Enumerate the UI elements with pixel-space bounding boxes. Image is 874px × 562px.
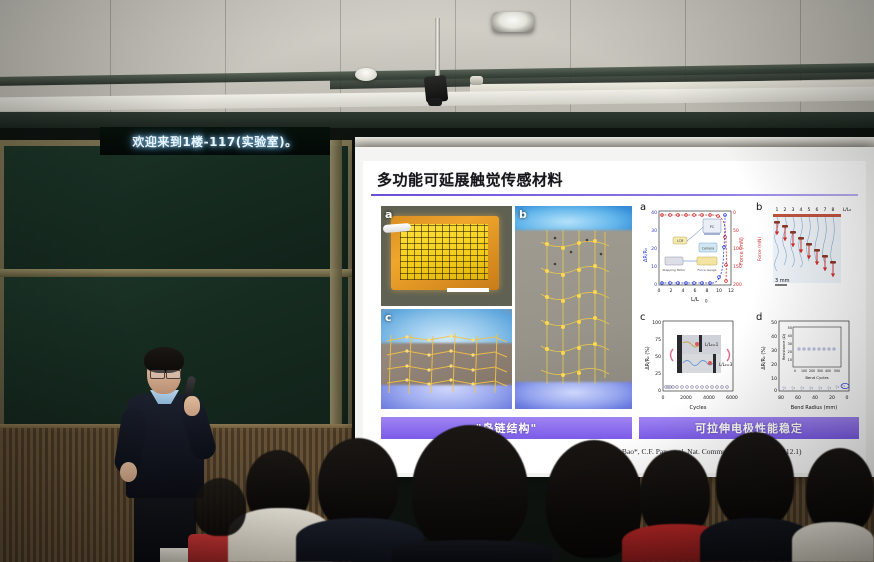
svg-text:1: 1 (776, 207, 779, 213)
svg-text:0: 0 (846, 395, 849, 401)
svg-text:3 mm: 3 mm (775, 278, 790, 284)
svg-text:8: 8 (706, 288, 709, 294)
chart-label-c: c (640, 312, 646, 323)
svg-text:20: 20 (788, 350, 792, 354)
panel-label-a: a (385, 208, 392, 221)
svg-text:10: 10 (716, 288, 722, 294)
svg-text:L/L₀: L/L₀ (843, 207, 852, 213)
svg-text:Bend Radius (mm): Bend Radius (mm) (791, 405, 837, 411)
banner-island-bridge: "岛链结构" (381, 417, 632, 439)
photo-panel-c: c (381, 309, 512, 409)
svg-text:Force (mN): Force (mN) (739, 237, 745, 265)
svg-text:75: 75 (655, 337, 661, 343)
photo-panel-b: b (515, 206, 632, 409)
svg-text:5: 5 (808, 207, 811, 213)
svg-text:10: 10 (771, 376, 777, 382)
svg-text:40: 40 (651, 210, 657, 216)
svg-text:50: 50 (771, 320, 777, 326)
audience-head (318, 438, 398, 530)
svg-text:ΔR/R₀: ΔR/R₀ (643, 248, 649, 262)
svg-text:3: 3 (792, 207, 795, 213)
svg-text:0: 0 (705, 299, 708, 304)
svg-text:30: 30 (771, 348, 777, 354)
chart-panel-d: d 504030 20100 806040 200 Bend Radius (m… (755, 313, 859, 413)
svg-text:8: 8 (832, 207, 835, 213)
svg-text:4: 4 (800, 207, 803, 213)
svg-text:0: 0 (654, 282, 657, 288)
audience-head (194, 478, 246, 536)
ceiling-light-icon (492, 12, 534, 32)
svg-text:L/L: L/L (691, 297, 700, 303)
speaker-right-hand (184, 396, 200, 416)
title-underline (371, 194, 858, 196)
svg-text:4000: 4000 (703, 395, 715, 401)
slide-title: 多功能可延展触觉传感材料 (377, 169, 563, 190)
svg-text:6: 6 (694, 288, 697, 294)
chart-b-svg: 123 456 78 L/L₀ (755, 203, 859, 305)
blackboard-upper-panel (4, 146, 348, 269)
svg-text:0: 0 (774, 388, 777, 394)
svg-text:0: 0 (658, 388, 661, 394)
svg-text:ΔR/R₀ (%): ΔR/R₀ (%) (761, 346, 767, 369)
svg-text:40: 40 (812, 395, 818, 401)
smoke-detector-icon (470, 76, 483, 85)
gloved-hand-upper (515, 206, 632, 230)
svg-text:100: 100 (652, 320, 661, 326)
svg-text:6: 6 (816, 207, 819, 213)
svg-text:25: 25 (655, 371, 661, 377)
stretched-mesh-overlay (537, 228, 613, 386)
chart-panel-b: b 123 456 78 L/L₀ (755, 203, 859, 305)
svg-text:500: 500 (834, 369, 840, 373)
svg-text:50: 50 (733, 228, 739, 234)
svg-text:80: 80 (778, 395, 784, 401)
chart-label-a: a (640, 202, 646, 213)
svg-text:30: 30 (651, 228, 657, 234)
chart-d-svg: 504030 20100 806040 200 Bend Radius (mm)… (755, 313, 859, 413)
svg-text:300: 300 (817, 369, 823, 373)
svg-text:40: 40 (788, 334, 792, 338)
scale-bar-a (447, 288, 489, 292)
led-sign-text: 欢迎来到1楼-117(实验室)。 (132, 133, 297, 150)
chart-label-b: b (756, 202, 762, 213)
svg-text:400: 400 (825, 369, 831, 373)
svg-text:50: 50 (655, 354, 661, 360)
svg-text:Stepping Motor: Stepping Motor (663, 268, 687, 272)
blackboard-right-post (330, 140, 342, 430)
svg-text:20: 20 (829, 395, 835, 401)
svg-text:12: 12 (728, 288, 734, 294)
gloved-hand-lower (515, 382, 632, 409)
chart-panel-a: a 403020 100 050100 150200 024 681012 (639, 203, 749, 305)
projection-screen-housing (355, 137, 874, 147)
svg-text:L/L₀=1: L/L₀=1 (705, 342, 719, 347)
projector-mount-rod (435, 18, 440, 80)
svg-text:6000: 6000 (726, 395, 738, 401)
svg-text:Bend Cycles: Bend Cycles (805, 375, 828, 380)
presentation-slide: 多功能可延展触觉传感材料 a (363, 161, 866, 473)
svg-text:Cycles: Cycles (690, 405, 707, 411)
svg-text:7: 7 (824, 207, 827, 213)
svg-text:0: 0 (733, 210, 736, 216)
svg-text:LCR: LCR (677, 239, 684, 243)
svg-text:PC: PC (710, 225, 715, 229)
lecture-hall-photo: 欢迎来到1楼-117(实验室)。 多功能可延展触觉传感材料 a (0, 0, 874, 562)
svg-text:200: 200 (809, 369, 815, 373)
audience-head (412, 425, 528, 553)
photo-panel-a: a (381, 206, 512, 306)
sensor-array-grid (400, 224, 488, 280)
panel-label-c: c (385, 311, 392, 324)
svg-text:Force Gauge: Force Gauge (698, 268, 717, 272)
speaker-left-hand (120, 462, 137, 482)
svg-text:0: 0 (662, 395, 665, 401)
svg-text:10: 10 (651, 264, 657, 270)
ceiling-light-round-icon (355, 68, 377, 81)
svg-text:50: 50 (788, 326, 792, 330)
svg-text:60: 60 (795, 395, 801, 401)
svg-text:2000: 2000 (680, 395, 692, 401)
svg-text:L/L₀=3: L/L₀=3 (719, 362, 733, 367)
glasses-left-lens-icon (150, 370, 165, 379)
svg-text:10: 10 (788, 358, 792, 362)
svg-text:20: 20 (651, 246, 657, 252)
svg-text:2: 2 (670, 288, 673, 294)
panel-label-b: b (519, 208, 527, 221)
chart-c-svg: 1007550 250 0200040006000 Cycles ΔR/R₀ (… (639, 313, 749, 413)
svg-text:4: 4 (682, 288, 685, 294)
audience-head (716, 432, 794, 528)
chart-panel-c: c 1007550 250 0200040006000 Cycles ΔR/R₀… (639, 313, 749, 413)
svg-text:0: 0 (658, 288, 661, 294)
svg-text:2: 2 (784, 207, 787, 213)
svg-text:100: 100 (801, 369, 807, 373)
svg-text:30: 30 (788, 342, 792, 346)
svg-text:Force (mN): Force (mN) (757, 237, 763, 262)
led-scrolling-sign: 欢迎来到1楼-117(实验室)。 (100, 127, 330, 155)
audience-shoulders (392, 540, 552, 562)
chart-label-d: d (756, 312, 762, 323)
projector-lens-icon (428, 98, 442, 106)
blackboard-chalk-rail (0, 269, 352, 277)
svg-text:20: 20 (771, 362, 777, 368)
svg-text:40: 40 (771, 334, 777, 340)
svg-text:0: 0 (794, 369, 796, 373)
svg-text:ΔR/R₀ (%): ΔR/R₀ (%) (645, 346, 651, 369)
svg-text:200: 200 (733, 282, 742, 288)
audience-shoulders (792, 522, 874, 562)
projection-screen: 多功能可延展触觉传感材料 a (355, 147, 874, 477)
glasses-right-lens-icon (166, 370, 181, 379)
svg-text:Camera: Camera (702, 246, 715, 250)
conformal-mesh-overlay (385, 331, 509, 397)
chart-a-svg: 403020 100 050100 150200 024 681012 L/L … (639, 203, 749, 305)
svg-text:Resistance (Ω): Resistance (Ω) (782, 333, 786, 360)
